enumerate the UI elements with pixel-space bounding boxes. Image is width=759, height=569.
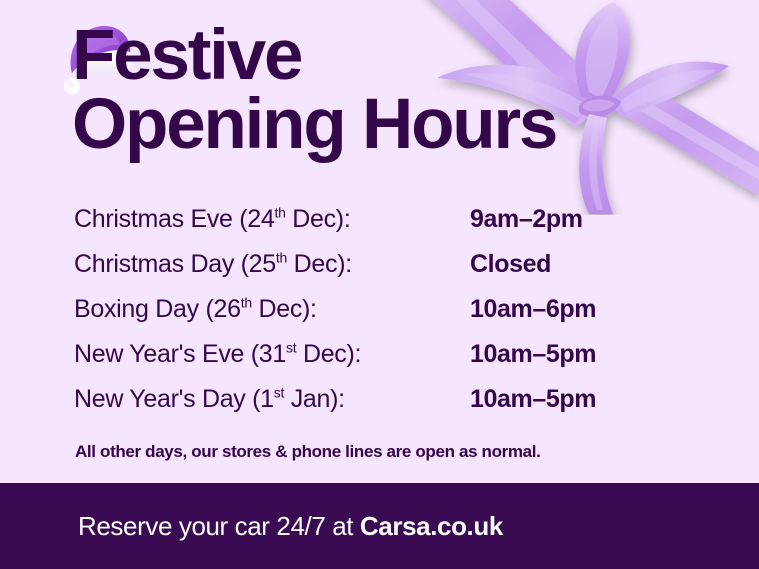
time-value: 9am–2pm xyxy=(470,205,583,234)
time-value: 10am–5pm xyxy=(470,385,596,414)
day-label: Christmas Eve (24th Dec): xyxy=(74,205,470,234)
footnote-text: All other days, our stores & phone lines… xyxy=(75,442,541,462)
hours-row: Boxing Day (26th Dec): 10am–6pm xyxy=(74,295,714,340)
hours-row: Christmas Eve (24th Dec): 9am–2pm xyxy=(74,205,714,250)
day-label: New Year's Day (1st Jan): xyxy=(74,385,470,414)
footer-bar: Reserve your car 24/7 at Carsa.co.uk xyxy=(0,483,759,569)
hours-row: Christmas Day (25th Dec): Closed xyxy=(74,250,714,295)
brand-name: Carsa.co.uk xyxy=(360,511,503,541)
day-label: New Year's Eve (31st Dec): xyxy=(74,340,470,369)
hours-row: New Year's Eve (31st Dec): 10am–5pm xyxy=(74,340,714,385)
footer-cta-text: Reserve your car 24/7 at Carsa.co.uk xyxy=(78,511,503,542)
time-value: 10am–5pm xyxy=(470,340,596,369)
festive-opening-hours-poster: Festive Opening Hours Christmas Eve (24t… xyxy=(0,0,759,569)
opening-hours-list: Christmas Eve (24th Dec): 9am–2pm Christ… xyxy=(74,205,714,430)
heading-block: Festive Opening Hours xyxy=(72,22,672,160)
hours-row: New Year's Day (1st Jan): 10am–5pm xyxy=(74,385,714,430)
time-value: Closed xyxy=(470,250,551,279)
day-label: Boxing Day (26th Dec): xyxy=(74,295,470,324)
day-label: Christmas Day (25th Dec): xyxy=(74,250,470,279)
footer-cta-prefix: Reserve your car 24/7 at xyxy=(78,511,360,541)
page-title: Festive Opening Hours xyxy=(72,22,672,160)
time-value: 10am–6pm xyxy=(470,295,596,324)
